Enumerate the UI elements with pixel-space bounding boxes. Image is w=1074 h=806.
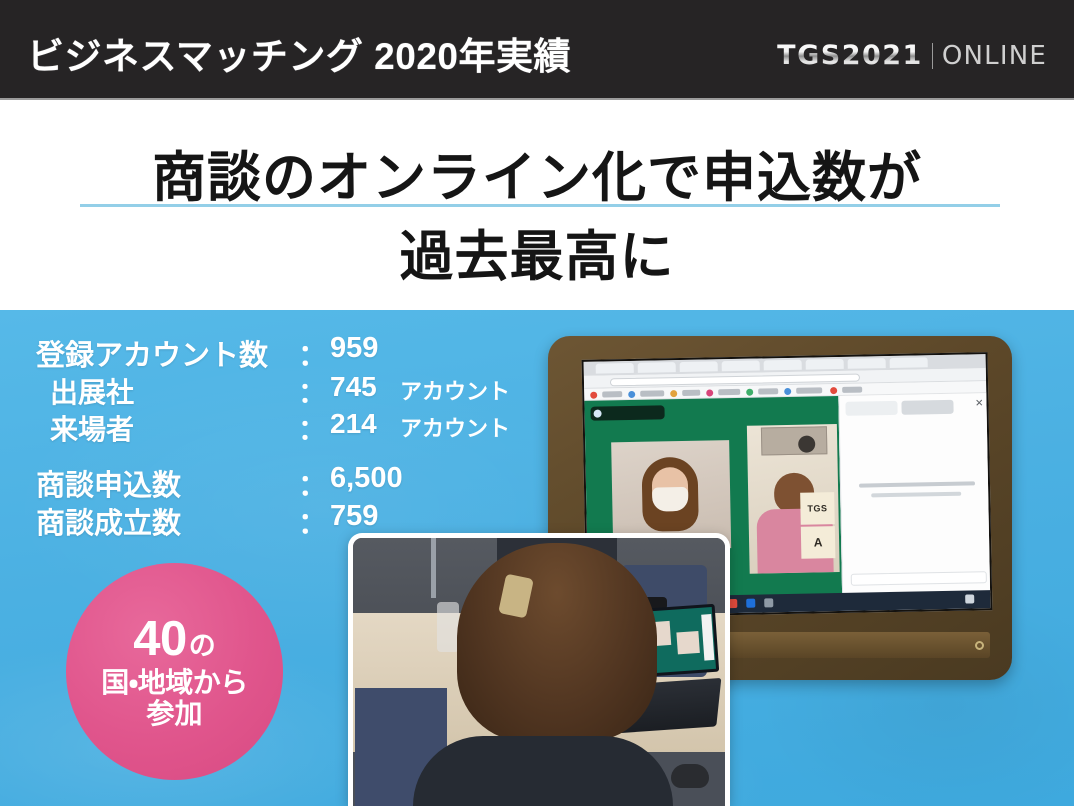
stat-unit: アカウント [400, 411, 510, 443]
stat-label: 商談成立数 [36, 500, 181, 542]
chat-message-line [871, 492, 961, 498]
badge-number-suffix: の [189, 632, 216, 661]
browser-tab [680, 361, 718, 372]
badge-line-3: 参加 [146, 699, 202, 729]
bookmark-label [842, 387, 862, 393]
bookmark-icon [590, 391, 597, 398]
stat-label: 登録アカウント数 [36, 332, 268, 374]
bookmark-label [796, 387, 822, 393]
chat-tab-people[interactable] [845, 401, 897, 416]
countries-badge: 40 の 国・地域から 参加 [66, 563, 283, 780]
chat-tab-messages[interactable] [901, 400, 953, 415]
stat-unit: アカウント [400, 374, 510, 406]
tgs-online-logo: TGS2021 ONLINE [777, 40, 1047, 71]
badge-line-2: 国・地域から [101, 668, 248, 698]
bookmark-icon [746, 388, 753, 395]
stat-row-registered-accounts: 登録アカウント数 ： 959 [0, 332, 540, 370]
header-title: ビジネスマッチング 2020年実績 [27, 26, 571, 80]
headline-divider [80, 204, 1000, 207]
background-shelf [761, 426, 828, 455]
stat-value: 759 [330, 500, 378, 533]
stat-value: 959 [330, 332, 378, 365]
bookmark-icon [830, 387, 837, 394]
headline-block: 商談のオンライン化で申込数が 過去最高に [0, 100, 1074, 310]
power-led-icon [975, 641, 984, 650]
stat-row-meeting-applications: 商談申込数 ： 6,500 [0, 462, 540, 500]
stat-value: 214 [330, 408, 377, 440]
chat-tab-strip [845, 400, 955, 416]
stat-colon: ： [298, 408, 326, 448]
badge-number: 40 [133, 613, 187, 666]
stat-colon: ： [298, 462, 327, 504]
shelf-hole [798, 435, 815, 452]
stat-label: 商談申込数 [36, 462, 181, 504]
bookmark-icon [670, 390, 677, 397]
participant-face-mask [652, 487, 688, 512]
laptop-video-tile [676, 631, 699, 654]
meeting-chat-panel: ✕ [838, 393, 992, 596]
stat-colon: ： [298, 332, 327, 374]
browser-tab [596, 363, 634, 374]
logo-online-text: ONLINE [942, 41, 1047, 71]
bookmark-icon [628, 390, 635, 397]
chat-message-input[interactable] [851, 571, 987, 586]
stat-label: 来場者 [50, 408, 134, 448]
bookmark-icon [706, 389, 713, 396]
browser-tab [848, 358, 886, 369]
close-icon[interactable]: ✕ [975, 398, 984, 409]
bookmark-icon [784, 387, 791, 394]
tgs-name-card: TGS [800, 492, 835, 525]
browser-tab [890, 357, 928, 368]
letter-name-card: A [801, 526, 836, 559]
participant-name-pill [590, 405, 664, 420]
taskbar-icon[interactable] [764, 598, 773, 607]
slide-root: ビジネスマッチング 2020年実績 TGS2021 ONLINE 商談のオンライ… [0, 0, 1074, 806]
stat-row-exhibitors: 出展社 ： 745 アカウント [0, 371, 540, 409]
stat-value: 6,500 [330, 462, 403, 495]
chat-message-line [859, 481, 975, 487]
water-bottle [437, 602, 459, 652]
stat-colon: ： [298, 500, 327, 542]
headline-line-1: 商談のオンライン化で申込数が [0, 133, 1074, 212]
browser-tab [764, 360, 802, 371]
bookmark-label [758, 388, 778, 394]
headline-line-2: 過去最高に [0, 212, 1074, 291]
logo-divider [932, 43, 933, 69]
visitor-shoulders [413, 736, 673, 806]
computer-mouse [671, 764, 709, 788]
stat-colon: ： [298, 371, 326, 411]
taskbar-clock[interactable] [965, 594, 974, 603]
bookmark-label [682, 390, 700, 396]
stat-row-visitors: 来場者 ： 214 アカウント [0, 408, 540, 446]
taskbar-icon[interactable] [746, 599, 755, 608]
bookmark-label [718, 389, 740, 395]
photo-visitor-at-laptop [348, 533, 730, 806]
badge-top-line: 40 の [133, 613, 216, 666]
browser-tab [722, 361, 760, 372]
visitor-hair [457, 543, 657, 741]
bookmark-label [602, 391, 622, 397]
browser-tab [806, 359, 844, 370]
bookmark-label [640, 390, 664, 396]
stat-value: 745 [330, 371, 377, 403]
slide-header: ビジネスマッチング 2020年実績 TGS2021 ONLINE [0, 0, 1074, 100]
desk-stand [431, 538, 436, 598]
stat-label: 出展社 [50, 371, 134, 411]
participant-avatar-icon [594, 410, 602, 418]
logo-tgs-text: TGS2021 [777, 40, 923, 71]
browser-tab [638, 362, 676, 373]
